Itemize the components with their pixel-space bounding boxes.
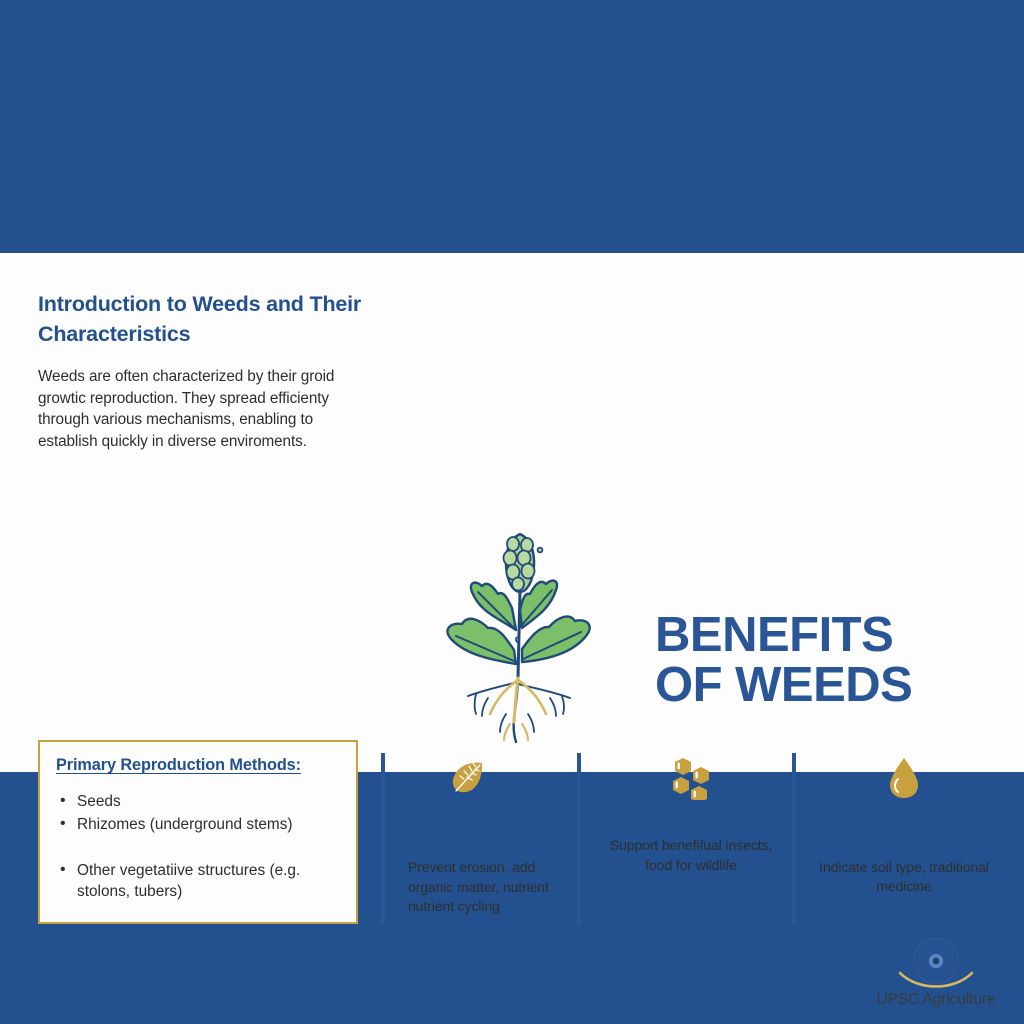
benefit-description: Support benefifual insects, food for wil… [596,836,786,875]
benefits-title-line-1: BENEFITS [655,610,975,660]
benefit-item-soil-health: 1. Soil Health Improvement Prevent erosi… [408,753,583,917]
weed-plant-illustration [432,518,608,746]
primary-reproduction-methods-box: Primary Reproduction Methods: Seeds Rhiz… [38,740,358,924]
droplet-icon-wrap [804,753,1004,803]
content-panel: Introduction to Weeds and Their Characte… [0,253,1024,772]
leaf-icon-wrap [408,753,583,803]
column-divider [381,753,385,925]
repro-methods-list: Seeds Rhizomes (underground stems) Other… [56,791,340,902]
list-item: Rhizomes (underground stems) [56,814,340,835]
page-title: Introduction to Weeds and Their Characte… [38,289,368,349]
brand-logo: UPSC Agriculture [862,935,1010,1009]
honeycomb-icon-wrap [596,753,786,803]
benefit-title: 1. Soil Health Improvement [408,807,583,851]
droplet-icon [887,756,921,800]
benefit-title: 2. Biotiveisity & Habitat [596,807,786,829]
honeycomb-icon [669,756,713,800]
benefits-title-line-2: OF WEEDS [655,660,975,710]
infographic-page: { "theme": { "background_blue": "#23518f… [0,0,1024,1024]
leaf-icon [448,760,486,796]
benefit-description: Indicate soil type, traditional medicine [804,858,1004,896]
benefits-title: BENEFITS OF WEEDS [655,610,975,710]
intro-paragraph: Weeds are often characterized by their g… [38,366,368,452]
benefit-item-biodiversity: 2. Biotiveisity & Habitat Support benefi… [596,753,786,875]
benefit-title: 3. Bio-indicators & Medicinal [804,807,1004,851]
brand-logo-text: UPSC Agriculture [862,991,1010,1009]
benefit-description: Prevent erosion, add organic matter, nut… [408,858,583,917]
introduction-section: Introduction to Weeds and Their Characte… [38,289,368,452]
benefits-list: 1. Soil Health Improvement Prevent erosi… [381,753,1006,928]
list-item: Seeds [56,791,340,812]
ashoka-chakra-icon [888,935,984,993]
list-item: Other vegetatiive structures (e.g. stolo… [56,860,340,902]
repro-box-title: Primary Reproduction Methods: [56,756,340,775]
benefit-item-bio-indicators: 3. Bio-indicators & Medicinal Indicate s… [804,753,1004,896]
column-divider [792,753,796,925]
